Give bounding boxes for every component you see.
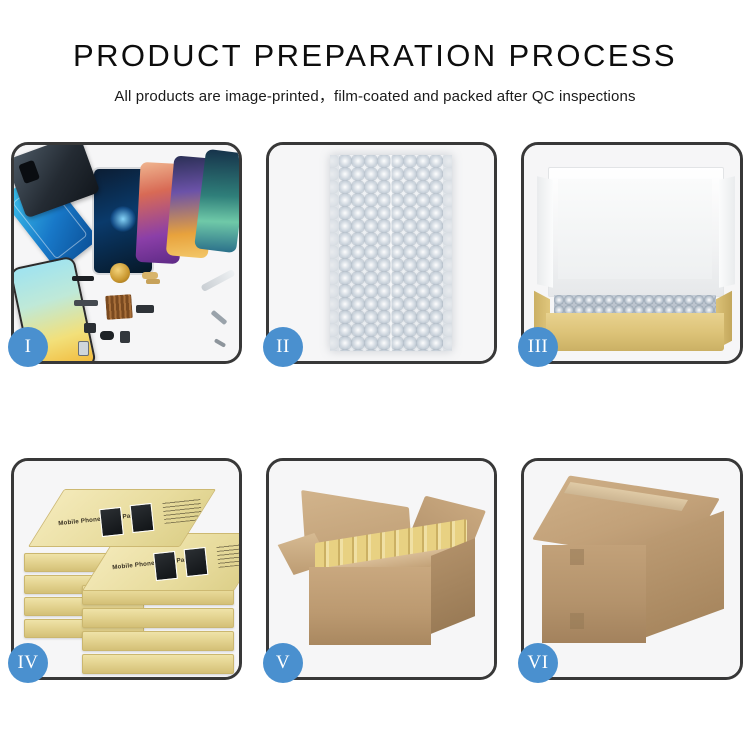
- retail-box-window: [153, 551, 178, 581]
- step-badge-3: III: [518, 327, 558, 367]
- page-header: PRODUCT PREPARATION PROCESS All products…: [0, 0, 750, 106]
- step-panel-3: III: [521, 142, 743, 364]
- small-part-icon: [136, 305, 154, 313]
- small-part-icon: [100, 331, 114, 340]
- step-image-3: [524, 145, 740, 361]
- retail-box-spec-lines: [162, 498, 202, 524]
- step-panel-2: II: [266, 142, 497, 364]
- open-carton-icon: [281, 485, 481, 665]
- phone-back-housing-icon: [14, 145, 100, 218]
- small-part-icon: [74, 300, 98, 306]
- carton-handle-tab: [570, 549, 584, 565]
- retail-box-edge: [82, 654, 234, 674]
- process-steps-grid: I II III: [0, 134, 750, 714]
- step-badge-6: VI: [518, 643, 558, 683]
- step-badge-1: I: [8, 327, 48, 367]
- step-image-2: [269, 145, 494, 361]
- retail-box-edge: [82, 608, 234, 628]
- mailer-box-front-panel: [546, 313, 724, 351]
- retail-box-spec-lines: [216, 542, 239, 568]
- wrap-seam: [390, 155, 392, 351]
- retail-box-window: [130, 503, 155, 533]
- step-panel-6: VI: [521, 458, 743, 680]
- bubble-wrap-icon: [330, 155, 452, 351]
- step-image-5: [269, 461, 494, 677]
- phone-parts-scene: [14, 145, 239, 361]
- carton-front-panel: [309, 567, 431, 645]
- step-image-6: [524, 461, 740, 677]
- retail-box-window: [184, 547, 209, 577]
- small-part-icon: [146, 279, 160, 284]
- small-part-icon: [210, 310, 227, 325]
- step-badge-5: V: [263, 643, 303, 683]
- retail-box-window: [99, 507, 124, 537]
- carton-front-panel: [542, 545, 646, 643]
- step-image-4: Mobile Phone Spare Parts Mobile Phone Sp…: [14, 461, 239, 677]
- page-subtitle: All products are image-printed，film-coat…: [0, 74, 750, 106]
- small-part-icon: [214, 338, 226, 347]
- gold-coil-icon: [110, 263, 130, 283]
- step-image-1: [14, 145, 239, 361]
- step-panel-1: I: [11, 142, 242, 364]
- sealed-carton-icon: [538, 487, 728, 659]
- retail-box-edge: [82, 631, 234, 651]
- retail-box-stack-icon: Mobile Phone Spare Parts Mobile Phone Sp…: [22, 475, 237, 671]
- step-badge-2: II: [263, 327, 303, 367]
- small-part-icon: [142, 272, 158, 279]
- page-title: PRODUCT PREPARATION PROCESS: [0, 0, 750, 74]
- step-panel-4: Mobile Phone Spare Parts Mobile Phone Sp…: [11, 458, 242, 680]
- small-part-icon: [120, 331, 130, 343]
- chip-board-icon: [105, 294, 133, 320]
- small-part-icon: [78, 341, 89, 356]
- carton-side-panel: [431, 538, 475, 634]
- step-panel-5: V: [266, 458, 497, 680]
- carton-handle-tab: [570, 613, 584, 629]
- step-badge-4: IV: [8, 643, 48, 683]
- small-part-icon: [72, 276, 94, 281]
- tweezers-icon: [200, 269, 235, 292]
- mailer-box-interior: [558, 179, 712, 279]
- small-part-icon: [84, 323, 96, 333]
